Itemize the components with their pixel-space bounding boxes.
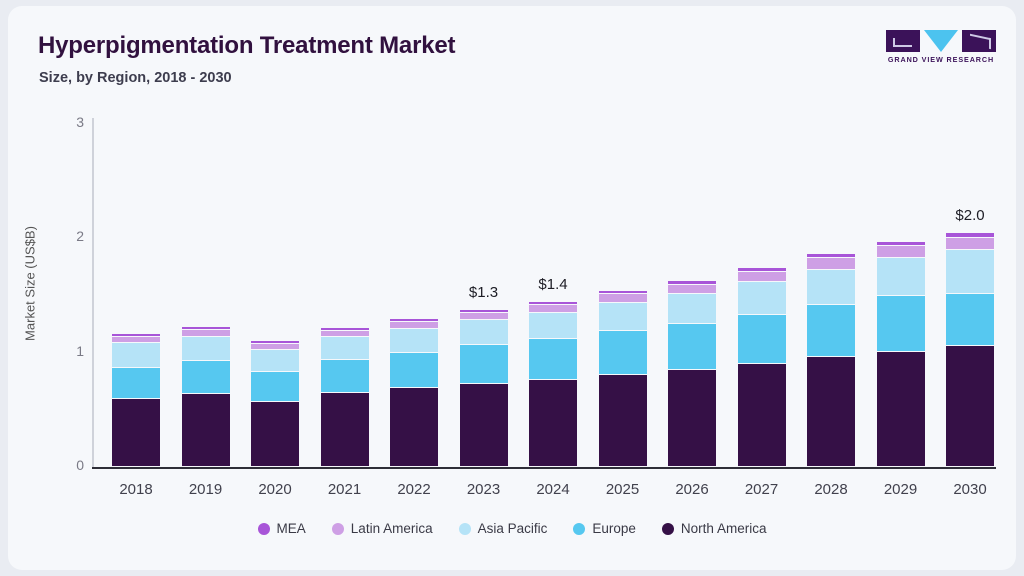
legend-item[interactable]: Latin America bbox=[332, 521, 433, 536]
x-tick-label: 2023 bbox=[444, 481, 524, 498]
legend-item[interactable]: Europe bbox=[573, 521, 636, 536]
bar-segment[interactable] bbox=[738, 272, 786, 282]
bar-segment[interactable] bbox=[112, 368, 160, 399]
bar-segment[interactable] bbox=[807, 305, 855, 357]
bar-segment[interactable] bbox=[251, 402, 299, 467]
bar-segment[interactable] bbox=[668, 324, 716, 370]
legend-item[interactable]: MEA bbox=[258, 521, 306, 536]
x-tick-label: 2022 bbox=[374, 481, 454, 498]
bar-segment[interactable] bbox=[390, 353, 438, 388]
bar-stack bbox=[599, 291, 647, 467]
bar-column[interactable] bbox=[946, 118, 994, 467]
y-tick-label: 3 bbox=[44, 114, 84, 130]
bar-segment[interactable] bbox=[390, 322, 438, 329]
bar-stack bbox=[668, 281, 716, 467]
bar-segment[interactable] bbox=[251, 372, 299, 402]
legend-swatch-icon bbox=[332, 523, 344, 535]
y-axis-line bbox=[92, 118, 94, 467]
bar-segment[interactable] bbox=[112, 399, 160, 467]
bar-column[interactable] bbox=[112, 118, 160, 467]
x-tick-label: 2019 bbox=[166, 481, 246, 498]
legend-label: MEA bbox=[277, 521, 306, 536]
bar-segment[interactable] bbox=[460, 384, 508, 467]
bar-stack bbox=[807, 254, 855, 467]
bar-segment[interactable] bbox=[599, 303, 647, 331]
bar-segment[interactable] bbox=[877, 246, 925, 258]
bar-stack bbox=[321, 328, 369, 467]
bar-segment[interactable] bbox=[529, 380, 577, 467]
bar-stack bbox=[182, 327, 230, 467]
bar-column[interactable] bbox=[599, 118, 647, 467]
legend-swatch-icon bbox=[662, 523, 674, 535]
y-axis-label: Market Size (US$B) bbox=[23, 134, 38, 434]
legend-label: North America bbox=[681, 521, 767, 536]
x-tick-label: 2024 bbox=[513, 481, 593, 498]
x-axis-line bbox=[92, 467, 996, 469]
bar-segment[interactable] bbox=[460, 320, 508, 345]
x-tick-label: 2018 bbox=[96, 481, 176, 498]
bar-stack bbox=[460, 310, 508, 467]
legend-item[interactable]: Asia Pacific bbox=[459, 521, 548, 536]
bar-segment[interactable] bbox=[321, 393, 369, 467]
bar-column[interactable] bbox=[738, 118, 786, 467]
chart-card: Hyperpigmentation Treatment Market Size,… bbox=[8, 6, 1016, 570]
bar-segment[interactable] bbox=[390, 329, 438, 353]
bar-value-label: $1.4 bbox=[508, 276, 598, 293]
bar-segment[interactable] bbox=[182, 361, 230, 394]
y-tick-label: 2 bbox=[44, 228, 84, 244]
bar-segment[interactable] bbox=[946, 346, 994, 467]
x-tick-label: 2029 bbox=[861, 481, 941, 498]
bar-stack bbox=[877, 242, 925, 467]
bar-segment[interactable] bbox=[668, 294, 716, 325]
bar-segment[interactable] bbox=[807, 357, 855, 467]
bar-column[interactable] bbox=[390, 118, 438, 467]
bar-column[interactable] bbox=[251, 118, 299, 467]
bar-column[interactable] bbox=[321, 118, 369, 467]
bar-stack bbox=[112, 334, 160, 467]
x-tick-label: 2028 bbox=[791, 481, 871, 498]
bar-segment[interactable] bbox=[599, 331, 647, 374]
bar-segment[interactable] bbox=[599, 375, 647, 467]
bar-stack bbox=[251, 341, 299, 467]
bar-chart: Market Size (US$B) 0123 2018201920202021… bbox=[8, 6, 1016, 570]
bar-segment[interactable] bbox=[946, 294, 994, 346]
bar-segment[interactable] bbox=[460, 345, 508, 384]
x-tick-label: 2025 bbox=[583, 481, 663, 498]
bar-segment[interactable] bbox=[668, 285, 716, 294]
bar-segment[interactable] bbox=[182, 330, 230, 337]
x-tick-label: 2026 bbox=[652, 481, 732, 498]
bar-segment[interactable] bbox=[182, 337, 230, 361]
bar-segment[interactable] bbox=[529, 305, 577, 313]
legend-item[interactable]: North America bbox=[662, 521, 767, 536]
bar-segment[interactable] bbox=[668, 370, 716, 467]
bar-segment[interactable] bbox=[946, 250, 994, 293]
bar-column[interactable] bbox=[182, 118, 230, 467]
legend-swatch-icon bbox=[459, 523, 471, 535]
bar-column[interactable] bbox=[807, 118, 855, 467]
bar-segment[interactable] bbox=[460, 313, 508, 320]
bar-segment[interactable] bbox=[112, 343, 160, 368]
bar-segment[interactable] bbox=[182, 394, 230, 467]
bar-stack bbox=[529, 302, 577, 467]
bar-segment[interactable] bbox=[738, 315, 786, 364]
bar-segment[interactable] bbox=[529, 339, 577, 380]
bar-segment[interactable] bbox=[599, 294, 647, 302]
bar-segment[interactable] bbox=[807, 270, 855, 305]
bar-stack bbox=[946, 233, 994, 467]
bar-segment[interactable] bbox=[321, 360, 369, 393]
bar-segment[interactable] bbox=[738, 282, 786, 315]
y-tick-label: 1 bbox=[44, 343, 84, 359]
bar-segment[interactable] bbox=[321, 337, 369, 360]
legend-swatch-icon bbox=[573, 523, 585, 535]
bar-segment[interactable] bbox=[738, 364, 786, 467]
legend-label: Europe bbox=[592, 521, 636, 536]
bar-column[interactable] bbox=[877, 118, 925, 467]
bar-column[interactable] bbox=[668, 118, 716, 467]
bar-segment[interactable] bbox=[390, 388, 438, 467]
bar-stack bbox=[390, 319, 438, 467]
x-tick-label: 2020 bbox=[235, 481, 315, 498]
y-tick-label: 0 bbox=[44, 457, 84, 473]
bar-segment[interactable] bbox=[877, 296, 925, 352]
chart-legend: MEALatin AmericaAsia PacificEuropeNorth … bbox=[8, 521, 1016, 536]
bar-segment[interactable] bbox=[877, 258, 925, 296]
x-tick-label: 2027 bbox=[722, 481, 802, 498]
legend-label: Latin America bbox=[351, 521, 433, 536]
bar-segment[interactable] bbox=[251, 350, 299, 373]
bar-segment[interactable] bbox=[946, 238, 994, 250]
bar-value-label: $2.0 bbox=[925, 207, 1015, 224]
x-tick-label: 2030 bbox=[930, 481, 1010, 498]
bar-segment[interactable] bbox=[529, 313, 577, 339]
legend-label: Asia Pacific bbox=[478, 521, 548, 536]
x-tick-label: 2021 bbox=[305, 481, 385, 498]
bar-segment[interactable] bbox=[877, 352, 925, 467]
legend-swatch-icon bbox=[258, 523, 270, 535]
bar-segment[interactable] bbox=[807, 258, 855, 269]
bar-stack bbox=[738, 268, 786, 467]
